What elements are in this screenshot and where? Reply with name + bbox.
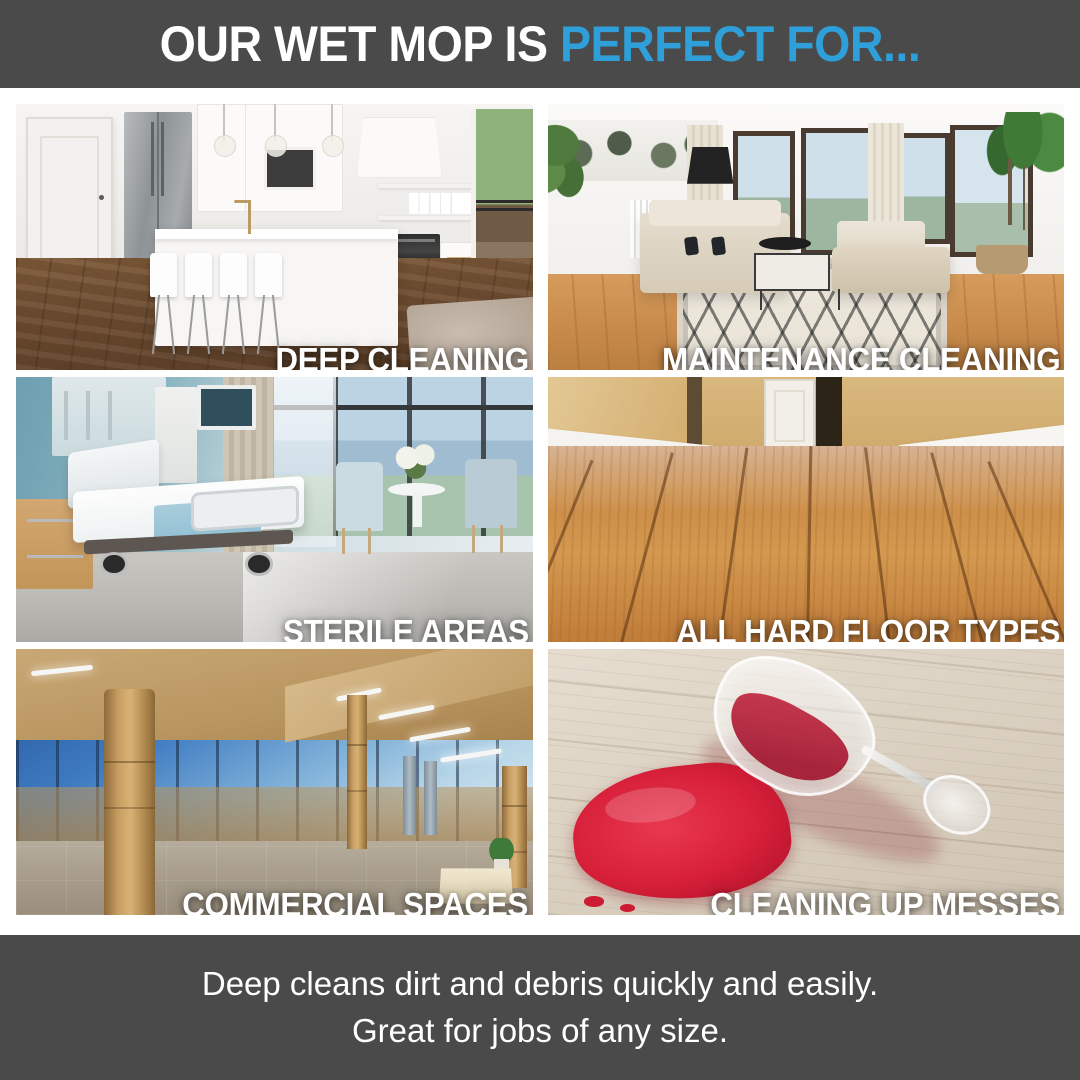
hardwood-floor-photo (548, 377, 1065, 643)
bed-caster (100, 552, 127, 576)
feature-tile-maintenance-cleaning[interactable]: MAINTENANCE CLEANING (548, 104, 1065, 370)
faucet-icon (248, 200, 251, 235)
planter-basket (976, 245, 1028, 274)
lobby-plant (481, 838, 522, 873)
feature-tile-deep-cleaning[interactable]: DEEP CLEANING (16, 104, 533, 370)
feature-grid-row: DEEP CLEANING (16, 104, 1064, 370)
pendant-light-3 (331, 104, 333, 141)
door-jamb (687, 377, 702, 451)
feature-tile-all-hard-floor-types[interactable]: ALL HARD FLOOR TYPES (548, 377, 1065, 643)
feature-tile-commercial-spaces[interactable]: COMMERCIAL SPACES (16, 649, 533, 915)
pendant-light-1 (223, 104, 225, 141)
hospital-room-photo (16, 377, 533, 643)
ottoman (832, 247, 951, 292)
feature-grid-row: COMMERCIAL SPACES (16, 649, 1064, 915)
tile-caption: DEEP CLEANING (275, 343, 529, 370)
tile-caption: COMMERCIAL SPACES (183, 888, 529, 915)
footer-line-1: Deep cleans dirt and debris quickly and … (202, 963, 878, 1005)
page-title: OUR WET MOP IS PERFECT FOR... (160, 19, 921, 69)
coffee-table (754, 253, 830, 292)
bar-stool (185, 253, 212, 354)
tile-caption: MAINTENANCE CLEANING (662, 343, 1060, 370)
bed-side-rail (191, 485, 299, 532)
visitor-chair-left (336, 462, 382, 531)
bar-stool (150, 253, 177, 354)
wine-spill-photo (548, 649, 1065, 915)
dark-doorway (816, 377, 842, 446)
living-room-photo (548, 104, 1065, 370)
bed-caster (245, 552, 272, 576)
flower-bouquet (393, 443, 439, 480)
bar-stools (150, 253, 284, 354)
page-title-blue: PERFECT FOR... (560, 16, 920, 72)
red-wine (716, 680, 859, 799)
throw-pillow (711, 236, 727, 255)
footer-band: Deep cleans dirt and debris quickly and … (0, 935, 1080, 1080)
far-column (403, 756, 416, 836)
concrete-column-mid (347, 695, 368, 849)
dishware (409, 193, 476, 214)
feature-tile-sterile-areas[interactable]: STERILE AREAS (16, 377, 533, 643)
kitchen-photo (16, 104, 533, 370)
feature-grid: DEEP CLEANING (0, 88, 1080, 935)
patient-monitor (197, 385, 257, 430)
plant-left (548, 109, 620, 199)
footer-line-2: Great for jobs of any size. (352, 1010, 728, 1052)
page-title-white: OUR WET MOP IS (160, 16, 560, 72)
bar-stool (255, 253, 282, 354)
product-feature-poster: OUR WET MOP IS PERFECT FOR... (0, 0, 1080, 1080)
tile-caption: STERILE AREAS (283, 615, 529, 642)
side-table (388, 483, 445, 496)
decor-tray (759, 237, 811, 250)
header-band: OUR WET MOP IS PERFECT FOR... (0, 0, 1080, 88)
bar-stool (220, 253, 247, 354)
far-column (424, 761, 437, 835)
plant-right (961, 112, 1064, 250)
concrete-ceiling (16, 649, 533, 739)
pendant-light-2 (274, 104, 276, 141)
tile-caption: CLEANING UP MESSES (710, 888, 1060, 915)
commercial-lobby-photo (16, 649, 533, 915)
feature-grid-row: STERILE AREAS (16, 377, 1064, 643)
feature-tile-cleaning-up-messes[interactable]: CLEANING UP MESSES (548, 649, 1065, 915)
far-door (764, 379, 814, 452)
floor-lamp-icon (687, 147, 733, 184)
throw-pillow (684, 236, 700, 255)
tile-caption: ALL HARD FLOOR TYPES (676, 615, 1060, 642)
range-hood (357, 117, 442, 177)
visitor-chair-right (465, 459, 517, 528)
hospital-bed (62, 446, 331, 574)
concrete-column-front (104, 689, 156, 915)
